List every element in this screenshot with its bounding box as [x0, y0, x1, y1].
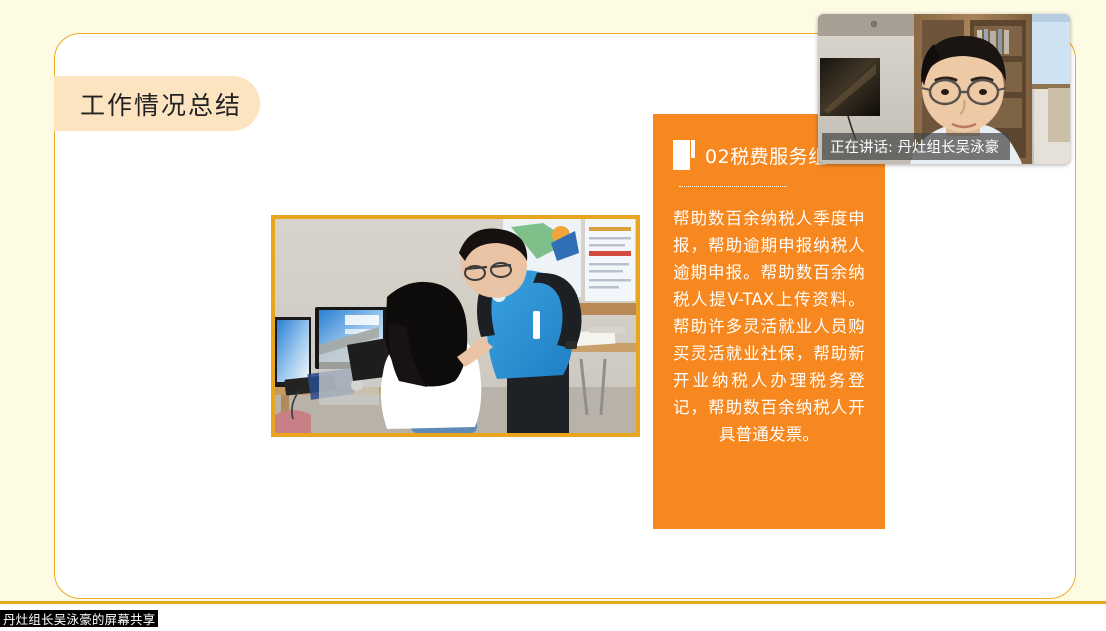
slide-photo [271, 215, 640, 437]
photo-illustration [275, 219, 636, 433]
panel-divider [679, 186, 787, 187]
video-overlay[interactable]: 正在讲话: 丹灶组长吴泳豪 [818, 14, 1070, 164]
screen-share-status-bar: 丹灶组长吴泳豪的屏幕共享 [0, 610, 158, 627]
speaker-name-text: 正在讲话: 丹灶组长吴泳豪 [830, 136, 999, 157]
book-icon [673, 140, 695, 170]
screen-share-status-text: 丹灶组长吴泳豪的屏幕共享 [3, 609, 155, 628]
slide-title-pill: 工作情况总结 [54, 76, 260, 131]
shared-screen-stage: 工作情况总结 [0, 0, 1106, 604]
panel-body-text: 帮助数百余纳税人季度申报，帮助逾期申报纳税人逾期申报。帮助数百余纳税人提V-TA… [673, 205, 865, 448]
panel-heading: 02税费服务组 [705, 142, 828, 169]
speaker-label: 正在讲话: 丹灶组长吴泳豪 [822, 133, 1010, 160]
content-panel: 02税费服务组 帮助数百余纳税人季度申报，帮助逾期申报纳税人逾期申报。帮助数百余… [653, 114, 885, 529]
page-title: 工作情况总结 [72, 86, 242, 122]
